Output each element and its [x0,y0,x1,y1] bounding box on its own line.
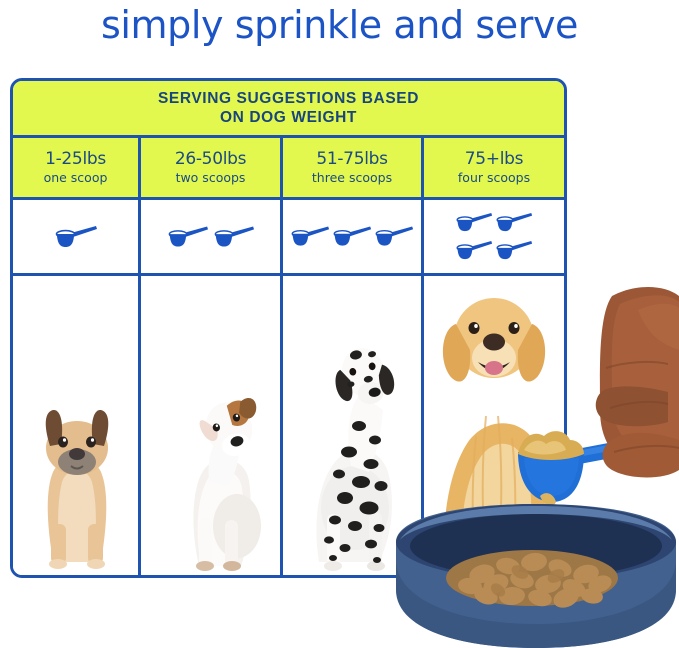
scoop-cell-4 [424,200,564,273]
dog-photo-dalmatian [283,276,424,578]
scoop-group-4 [455,209,533,264]
scoop-label-3: three scoops [312,170,392,186]
page-title: simply sprinkle and serve [0,2,679,48]
scoop-label-2: two scoops [176,170,246,186]
weight-cell-1: 1-25lbs one scoop [13,138,141,197]
hand-holding-scoop [596,287,679,478]
table-header-line2: ON DOG WEIGHT [158,108,419,127]
golden-retriever-illustration [424,276,564,578]
scoop-label-4: four scoops [458,170,530,186]
measuring-scoop-icon [290,222,330,251]
measuring-scoop-icon [332,222,372,251]
scoop-cell-1 [13,200,141,273]
scoop-cell-2 [141,200,283,273]
scoop-group-2 [167,222,255,252]
weight-cell-4: 75+lbs four scoops [424,138,564,197]
measuring-scoop-icon [495,237,533,264]
weight-value-4: 75+lbs [465,149,523,169]
scoop-group-3 [290,222,414,251]
scoop-icon-row [13,200,564,276]
measuring-scoop-icon [167,222,209,252]
measuring-scoop-icon [495,209,533,236]
dalmatian-illustration [283,276,424,578]
measuring-scoop-icon [54,222,98,252]
table-header-text: SERVING SUGGESTIONS BASED ON DOG WEIGHT [158,89,419,127]
weight-row: 1-25lbs one scoop 26-50lbs two scoops 51… [13,138,564,200]
table-header-line1: SERVING SUGGESTIONS BASED [158,89,419,108]
dog-photo-french-bulldog [13,276,141,578]
scoop-group-1 [54,222,98,252]
french-bulldog-illustration [13,276,141,578]
measuring-scoop-icon [374,222,414,251]
jack-russell-illustration [141,276,283,578]
dog-photo-jack-russell-terrier [141,276,283,578]
serving-suggestion-table: SERVING SUGGESTIONS BASED ON DOG WEIGHT … [10,78,567,578]
dog-photo-golden-retriever [424,276,564,578]
weight-value-3: 51-75lbs [316,149,387,169]
weight-cell-2: 26-50lbs two scoops [141,138,283,197]
weight-value-1: 1-25lbs [45,149,106,169]
weight-value-2: 26-50lbs [175,149,246,169]
measuring-scoop-icon [455,209,493,236]
table-header-band: SERVING SUGGESTIONS BASED ON DOG WEIGHT [13,81,564,138]
product-infographic: simply sprinkle and serve SERVING SUGGES… [0,0,679,648]
scoop-label-1: one scoop [44,170,108,186]
scoop-cell-3 [283,200,424,273]
dog-photo-row [13,276,564,578]
weight-cell-3: 51-75lbs three scoops [283,138,424,197]
measuring-scoop-icon [455,237,493,264]
measuring-scoop-icon [213,222,255,252]
